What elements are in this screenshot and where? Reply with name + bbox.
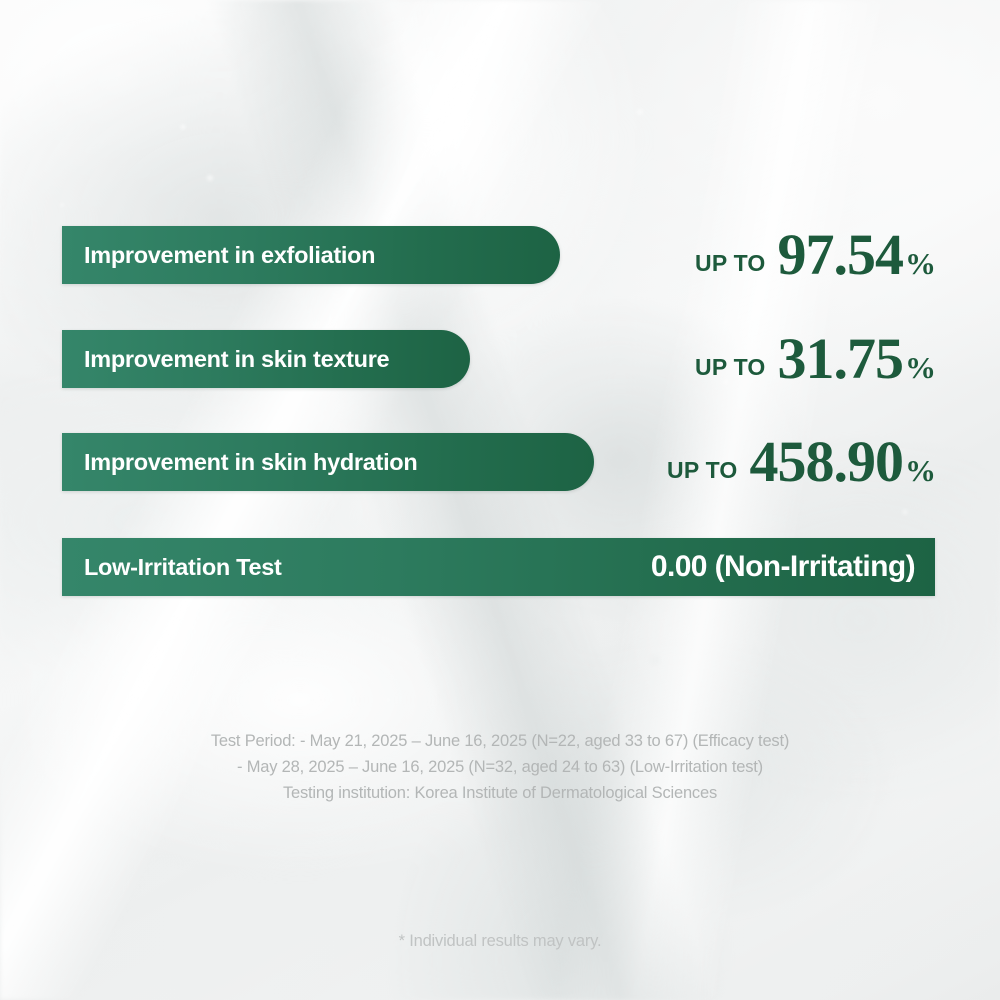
stat-row: Improvement in skin hydration UP TO 458.… xyxy=(0,433,1000,491)
stat-row: Improvement in skin texture UP TO 31.75 … xyxy=(0,330,1000,388)
promo-infographic: Improvement in exfoliation UP TO 97.54 %… xyxy=(0,0,1000,1000)
stat-bar-label: Improvement in skin texture xyxy=(62,346,389,373)
stat-bar: Low-Irritation Test 0.00 (Non-Irritating… xyxy=(62,538,935,596)
stat-bar: Improvement in exfoliation xyxy=(62,226,560,284)
stat-value-prefix: UP TO xyxy=(667,457,737,484)
stat-row: Low-Irritation Test 0.00 (Non-Irritating… xyxy=(0,538,1000,596)
stat-value-suffix: % xyxy=(905,246,936,282)
content-layer: Improvement in exfoliation UP TO 97.54 %… xyxy=(0,0,1000,1000)
stat-value-number: 31.75 xyxy=(778,330,904,388)
footnote-line-2: - May 28, 2025 – June 16, 2025 (N=32, ag… xyxy=(0,754,1000,780)
stat-row: Improvement in exfoliation UP TO 97.54 % xyxy=(0,226,1000,284)
stat-bar: Improvement in skin hydration xyxy=(62,433,594,491)
footnote-line-3: Testing institution: Korea Institute of … xyxy=(0,780,1000,806)
stat-value-prefix: UP TO xyxy=(695,250,765,277)
stat-bar-label: Improvement in skin hydration xyxy=(62,449,417,476)
footnote: Test Period: - May 21, 2025 – June 16, 2… xyxy=(0,728,1000,806)
stat-value: UP TO 458.90 % xyxy=(667,433,936,491)
stat-value-number: 97.54 xyxy=(778,226,904,284)
stat-value-suffix: % xyxy=(905,350,936,386)
stat-value-suffix: % xyxy=(905,453,936,489)
disclaimer-text: * Individual results may vary. xyxy=(0,932,1000,951)
stat-bar-label: Improvement in exfoliation xyxy=(62,242,375,269)
footnote-line-1: Test Period: - May 21, 2025 – June 16, 2… xyxy=(0,728,1000,754)
stat-value-number: 458.90 xyxy=(750,433,904,491)
stat-bar: Improvement in skin texture xyxy=(62,330,470,388)
stat-value: UP TO 31.75 % xyxy=(695,330,936,388)
stat-value-prefix: UP TO xyxy=(695,354,765,381)
stat-bar-label: Low-Irritation Test xyxy=(62,554,282,581)
stat-value-number: 0.00 (Non-Irritating) xyxy=(651,550,935,584)
stat-value: UP TO 97.54 % xyxy=(695,226,936,284)
